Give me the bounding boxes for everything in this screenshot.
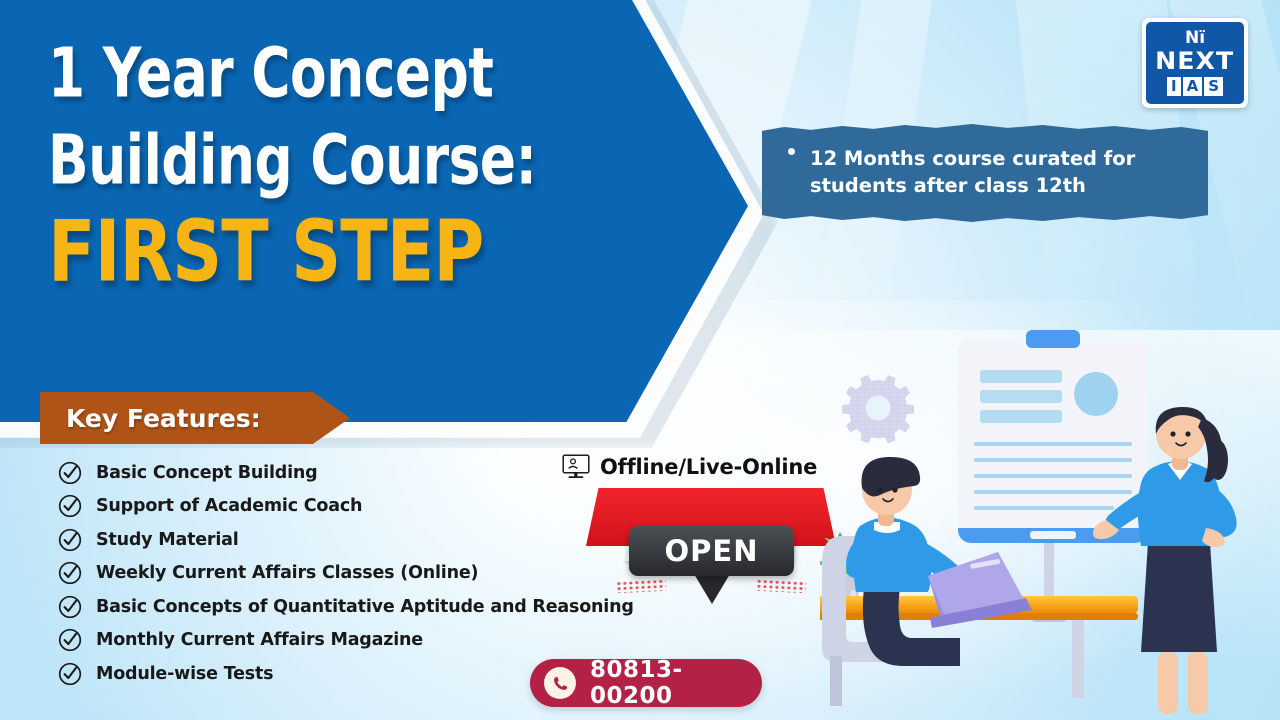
list-item-label: Basic Concepts of Quantitative Aptitude … [96,597,634,617]
highlight-note-text: 12 Months course curated for students af… [788,146,1196,199]
list-item: Monthly Current Affairs Magazine [58,624,718,658]
bullet-icon [788,148,795,155]
check-circle-icon [58,461,82,485]
logo-n-mark: Nï [1185,30,1205,47]
open-label: OPEN [629,526,794,576]
key-features-title: Key Features: [40,404,261,433]
check-circle-icon [58,662,82,686]
logo-ias-letter: A [1183,77,1203,96]
check-circle-icon [58,561,82,585]
students-presentation-illustration [820,320,1280,720]
highlight-note: 12 Months course curated for students af… [762,124,1208,222]
brand-logo[interactable]: Nï NEXT I A S [1142,18,1248,108]
headline-line-1: 1 Year Concept [48,40,600,107]
phone-icon [544,667,576,699]
monitor-person-icon [562,454,590,480]
check-circle-icon [58,628,82,652]
illustration [820,320,1280,720]
list-item-label: Monthly Current Affairs Magazine [96,630,423,650]
phone-number: 80813-00200 [590,657,762,709]
logo-ias-letter: S [1204,77,1223,96]
admission-badge[interactable]: ADMISSION OPEN [586,488,836,618]
page-title: 1 Year Concept Building Course: FIRST ST… [48,40,648,284]
key-features-ribbon: Key Features: [40,392,350,444]
logo-ias-blocks: I A S [1167,77,1223,96]
list-item-label: Support of Academic Coach [96,496,362,516]
brand-logo-inner: Nï NEXT I A S [1146,22,1244,104]
check-circle-icon [58,528,82,552]
logo-ias-letter: I [1167,77,1181,96]
contact-phone-badge[interactable]: 80813-00200 [530,659,762,707]
list-item-label: Module-wise Tests [96,664,273,684]
gear-icon [842,375,914,443]
check-circle-icon [58,595,82,619]
dot-decoration [756,579,807,594]
delivery-mode: Offline/Live-Online [562,454,817,480]
headline-emphasis: FIRST STEP [48,210,612,294]
highlight-note-text-wrap: 12 Months course curated for students af… [788,146,1196,199]
list-item-label: Basic Concept Building [96,463,318,483]
list-item-label: Study Material [96,530,239,550]
delivery-mode-label: Offline/Live-Online [600,455,817,479]
logo-wordmark: NEXT [1155,49,1234,73]
headline-line-2: Building Course: [48,127,600,194]
list-item-label: Weekly Current Affairs Classes (Online) [96,563,478,583]
check-circle-icon [58,494,82,518]
